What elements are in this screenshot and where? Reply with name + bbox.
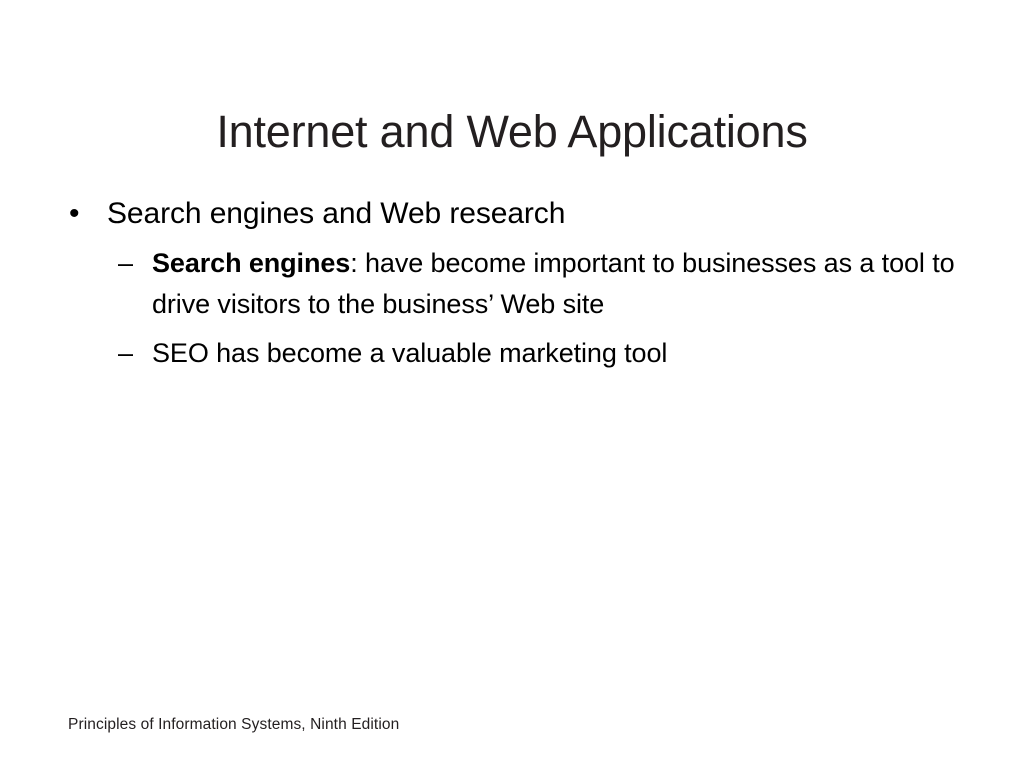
sub-bullet-text: SEO has become a valuable marketing tool [152,338,667,368]
slide-body: • Search engines and Web research – Sear… [0,193,1024,374]
sub-bullet-search-engines: – Search engines: have become important … [0,243,1024,325]
slide-footer: Principles of Information Systems, Ninth… [68,715,399,735]
slide-title: Internet and Web Applications [0,104,1024,160]
sub-bullet-list: – Search engines: have become important … [0,243,1024,374]
bullet-level1-text: Search engines and Web research [107,197,565,230]
bullet-dash-icon: – [118,333,133,374]
sub-bullet-seo: – SEO has become a valuable marketing to… [0,333,1024,374]
sub-bullet-lead-in: Search engines [152,248,350,278]
bullet-level1: • Search engines and Web research [0,193,1024,234]
bullet-dot-icon: • [69,193,79,234]
bullet-dash-icon: – [118,243,133,284]
presentation-slide: Internet and Web Applications • Search e… [0,0,1024,768]
